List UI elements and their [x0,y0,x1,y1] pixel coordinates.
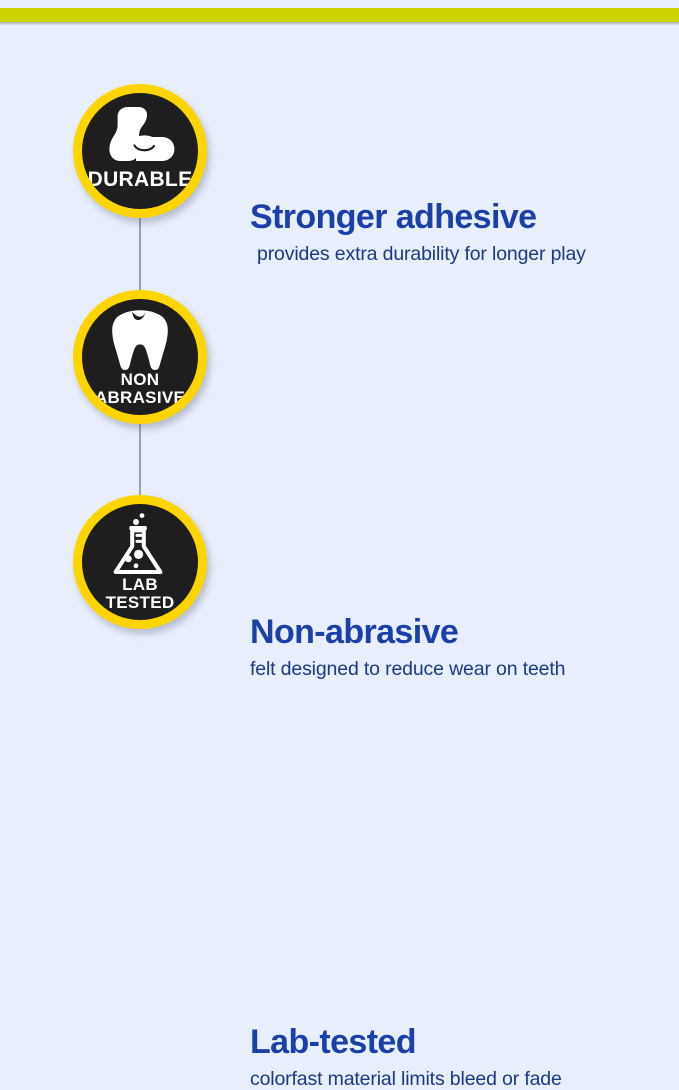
flexed-bicep-icon [82,101,198,167]
badge-caption: LAB TESTED [82,576,198,611]
feature-list: DURABLE Stronger adhesive provides extra… [0,0,679,679]
badge-face: DURABLE [82,93,198,209]
badge-caption: NON ABRASIVE [82,371,198,406]
badge-caption-line1: DURABLE [88,168,193,191]
badge-caption-line2: ABRASIVE [82,389,198,406]
lab-flask-icon [82,512,198,578]
badge-caption-line1: NON [121,370,160,389]
feature-text-block: Lab-tested colorfast material limits ble… [250,1025,665,1090]
badge-caption-line1: LAB [122,575,158,594]
badge-durable: DURABLE [73,84,207,218]
feature-subtext: provides extra durability for longer pla… [250,243,665,265]
badge-caption: DURABLE [82,169,198,190]
feature-row: LAB TESTED Lab-tested colorfast material… [0,495,679,629]
badge-face: NON ABRASIVE [82,299,198,415]
feature-row: DURABLE Stronger adhesive provides extra… [0,84,679,218]
feature-text-block: Stronger adhesive provides extra durabil… [250,200,665,265]
feature-subtext: colorfast material limits bleed or fade [250,1068,665,1090]
feature-subtext: felt designed to reduce wear on teeth [250,658,665,680]
feature-heading: Lab-tested [250,1025,665,1061]
badge-caption-line2: TESTED [82,594,198,611]
feature-heading: Stronger adhesive [250,200,665,236]
badge-lab-tested: LAB TESTED [73,495,207,629]
badge-non-abrasive: NON ABRASIVE [73,290,207,424]
tooth-icon [82,307,198,373]
feature-row: NON ABRASIVE Non-abrasive felt designed … [0,290,679,424]
badge-face: LAB TESTED [82,504,198,620]
